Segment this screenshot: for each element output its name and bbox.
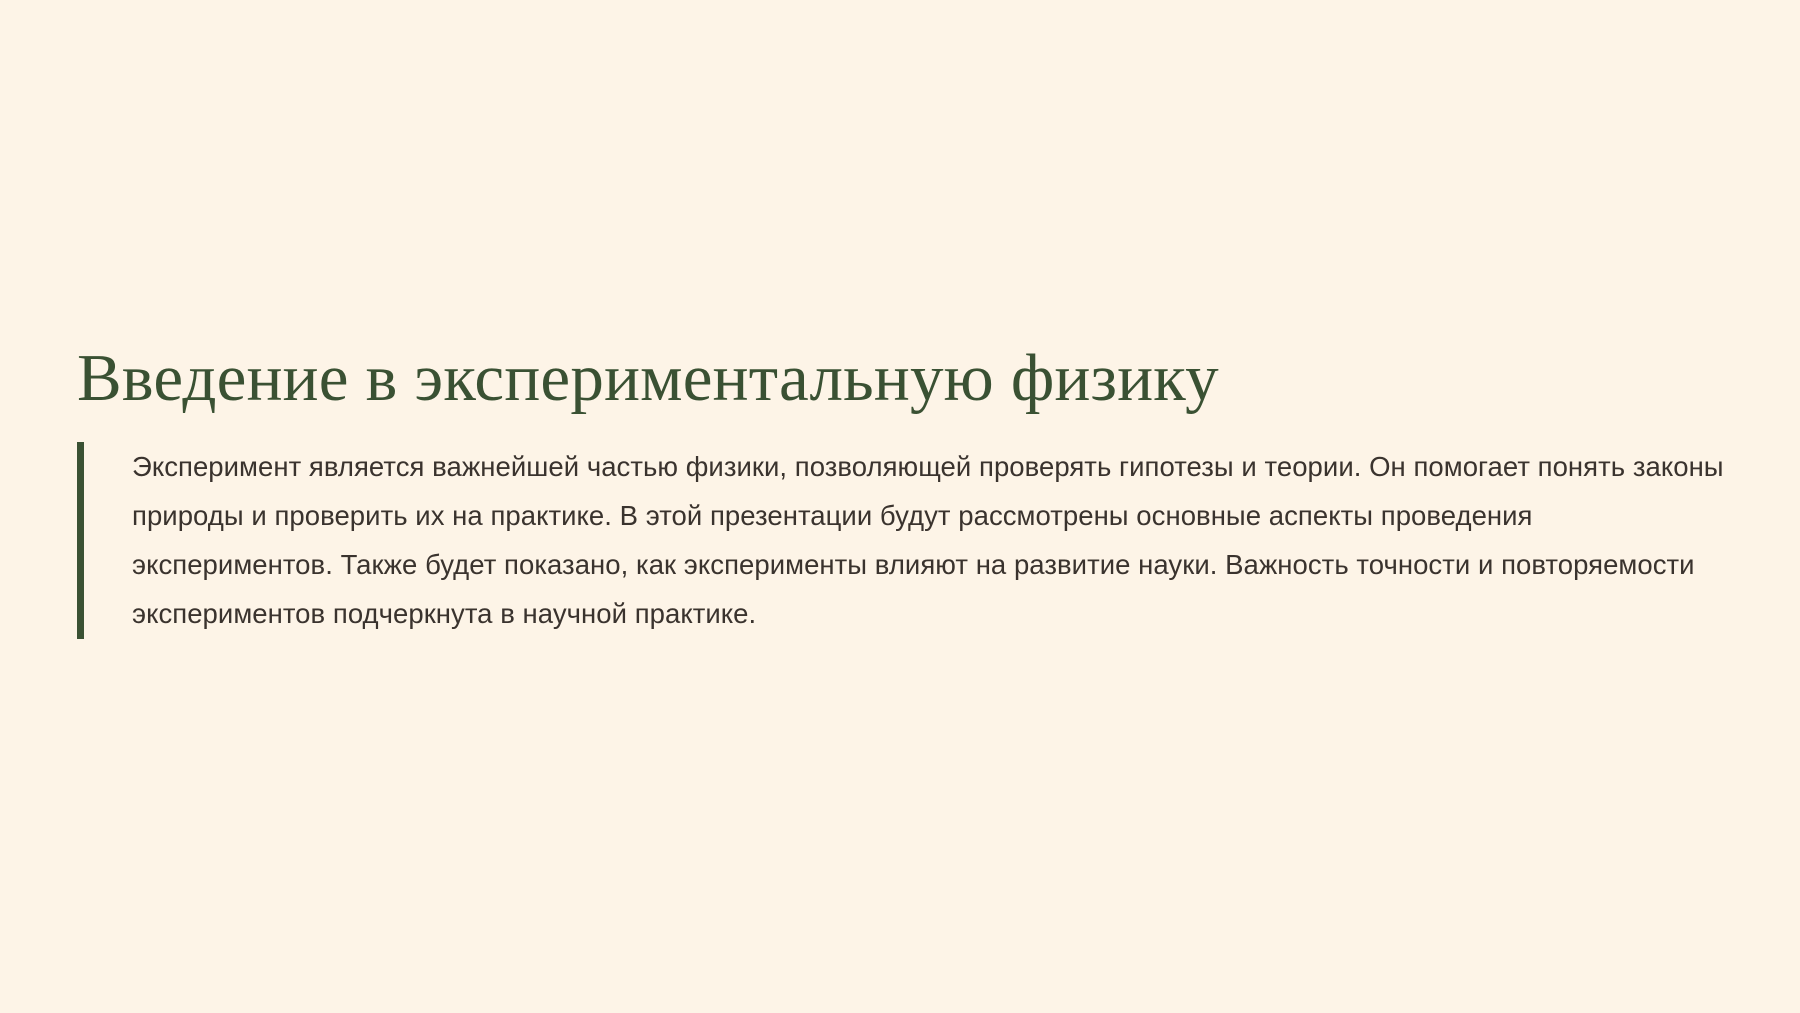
slide-content: Введение в экспериментальную физику Эксп… (77, 342, 1737, 638)
accent-bar (77, 442, 84, 639)
body-block: Эксперимент является важнейшей частью фи… (77, 442, 1737, 638)
body-paragraph: Эксперимент является важнейшей частью фи… (132, 442, 1732, 638)
page-title: Введение в экспериментальную физику (77, 342, 1737, 414)
presentation-slide: Введение в экспериментальную физику Эксп… (0, 0, 1800, 1013)
